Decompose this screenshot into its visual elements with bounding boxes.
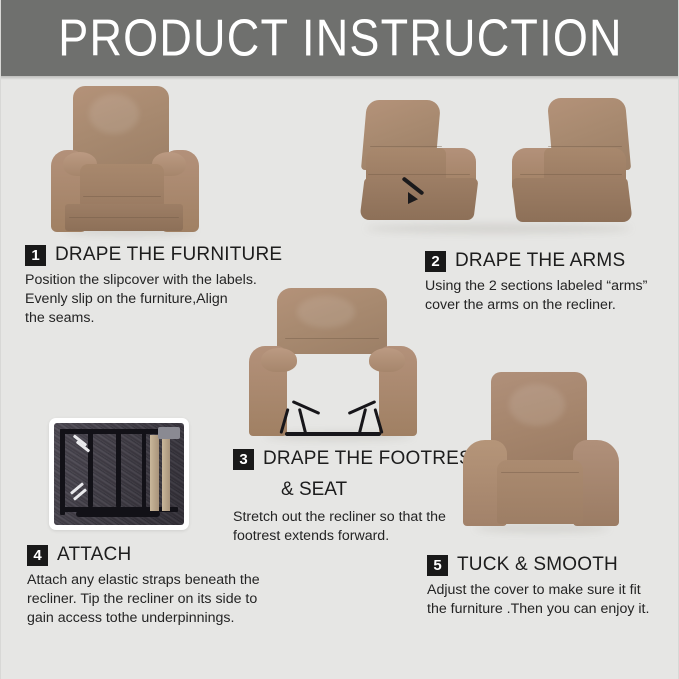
frame-rail-vertical-3 bbox=[142, 431, 146, 509]
step-2-body: Using the 2 sections labeled “arms” cove… bbox=[425, 277, 647, 315]
step-2-body-line-1: Using the 2 sections labeled “arms” bbox=[425, 277, 647, 296]
frame-rail-diagonal bbox=[76, 511, 160, 517]
recliner-front-upright-image bbox=[49, 86, 209, 238]
recliner-covered-front-image bbox=[461, 372, 623, 532]
step-5-block: 5 TUCK & SMOOTH Adjust the cover to make… bbox=[427, 554, 649, 619]
chair-crease-a bbox=[501, 472, 579, 473]
step-5-body-line-2: the furniture .Then you can enjoy it. bbox=[427, 600, 649, 619]
step-3-badge: 3 bbox=[233, 449, 254, 470]
step-1-block: 1 DRAPE THE FURNITURE Position the slipc… bbox=[25, 244, 282, 328]
step-4-body-line-1: Attach any elastic straps beneath the bbox=[27, 571, 260, 590]
footrest-mechanism-bar-3 bbox=[358, 408, 367, 434]
step-4-body-line-3: gain access tothe underpinnings. bbox=[27, 609, 260, 628]
step-4-head: 4 ATTACH bbox=[27, 544, 260, 566]
frame-rail-vertical-1 bbox=[88, 433, 93, 507]
chair-arm-roll-left bbox=[261, 348, 297, 372]
chair-crease bbox=[370, 146, 442, 147]
frame-rail-left bbox=[60, 429, 65, 515]
recliner-pair-angled-image bbox=[356, 96, 641, 241]
chair-crease-2 bbox=[520, 174, 622, 175]
photo-content bbox=[54, 423, 184, 525]
step-3-title: DRAPE THE FOOTREST bbox=[263, 448, 484, 470]
step-1-body-line-1: Position the slipcover with the labels. bbox=[25, 271, 282, 290]
recliner-right bbox=[498, 96, 641, 231]
frame-rail-vertical-2 bbox=[116, 433, 121, 507]
step-4-title: ATTACH bbox=[57, 544, 131, 566]
chair-base bbox=[359, 178, 478, 220]
chair-seat bbox=[80, 164, 164, 208]
chair-highlight bbox=[89, 94, 139, 134]
chair-seat bbox=[497, 460, 583, 524]
step-2-head: 2 DRAPE THE ARMS bbox=[425, 250, 647, 272]
step-1-body-line-3: the seams. bbox=[25, 309, 282, 328]
step-5-head: 5 TUCK & SMOOTH bbox=[427, 554, 649, 576]
chair-base bbox=[511, 178, 632, 222]
step-2-title: DRAPE THE ARMS bbox=[455, 250, 625, 272]
chair-crease-a bbox=[83, 196, 161, 197]
header-shadow bbox=[1, 76, 679, 80]
step-4-badge: 4 bbox=[27, 545, 48, 566]
step-5-title: TUCK & SMOOTH bbox=[457, 554, 618, 576]
step-1-head: 1 DRAPE THE FURNITURE bbox=[25, 244, 282, 266]
chair-footrest bbox=[271, 372, 395, 408]
step-3-body-line-1: Stretch out the recliner so that the bbox=[233, 508, 484, 527]
recliner-left bbox=[356, 96, 496, 231]
step-3-body: Stretch out the recliner so that the foo… bbox=[233, 508, 484, 546]
chair-arm-roll-right bbox=[369, 348, 405, 372]
recliner-underside-photo bbox=[49, 418, 189, 530]
step-5-body-line-1: Adjust the cover to make sure it fit bbox=[427, 581, 649, 600]
wood-slat-1 bbox=[150, 435, 159, 511]
chair-crease bbox=[548, 146, 622, 147]
chair-crease-b bbox=[69, 217, 179, 218]
page-title: PRODUCT INSTRUCTION bbox=[58, 8, 622, 68]
step-4-body-line-2: recliner. Tip the recliner on its side t… bbox=[27, 590, 260, 609]
footrest-mechanism-bar-2 bbox=[298, 408, 307, 434]
step-1-body-line-2: Evenly slip on the furniture,Align bbox=[25, 290, 282, 309]
step-2-block: 2 DRAPE THE ARMS Using the 2 sections la… bbox=[425, 250, 647, 315]
step-2-body-line-2: cover the arms on the recliner. bbox=[425, 296, 647, 315]
chair-back-crease bbox=[285, 338, 379, 339]
frame-corner-bracket bbox=[158, 427, 180, 439]
product-instruction-page: PRODUCT INSTRUCTION bbox=[0, 0, 679, 679]
chair-highlight bbox=[509, 384, 565, 426]
step-2-badge: 2 bbox=[425, 251, 446, 272]
step-1-badge: 1 bbox=[25, 245, 46, 266]
header-bar: PRODUCT INSTRUCTION bbox=[1, 0, 679, 76]
step-1-body: Position the slipcover with the labels. … bbox=[25, 271, 282, 328]
step-3-title-line-2: & SEAT bbox=[281, 479, 484, 501]
step-3-head: 3 DRAPE THE FOOTREST bbox=[233, 448, 484, 470]
wood-slat-2 bbox=[162, 435, 170, 511]
recliner-footrest-extended-image bbox=[249, 288, 429, 440]
footrest-mechanism-crossbar bbox=[285, 432, 381, 436]
chair-highlight bbox=[297, 296, 355, 328]
step-5-badge: 5 bbox=[427, 555, 448, 576]
step-1-title: DRAPE THE FURNITURE bbox=[55, 244, 282, 266]
step-3-body-line-2: footrest extends forward. bbox=[233, 527, 484, 546]
step-4-body: Attach any elastic straps beneath the re… bbox=[27, 571, 260, 628]
step-4-block: 4 ATTACH Attach any elastic straps benea… bbox=[27, 544, 260, 628]
step-5-body: Adjust the cover to make sure it fit the… bbox=[427, 581, 649, 619]
step-3-block: 3 DRAPE THE FOOTREST & SEAT Stretch out … bbox=[233, 448, 484, 546]
chair-crease-2 bbox=[368, 174, 470, 175]
